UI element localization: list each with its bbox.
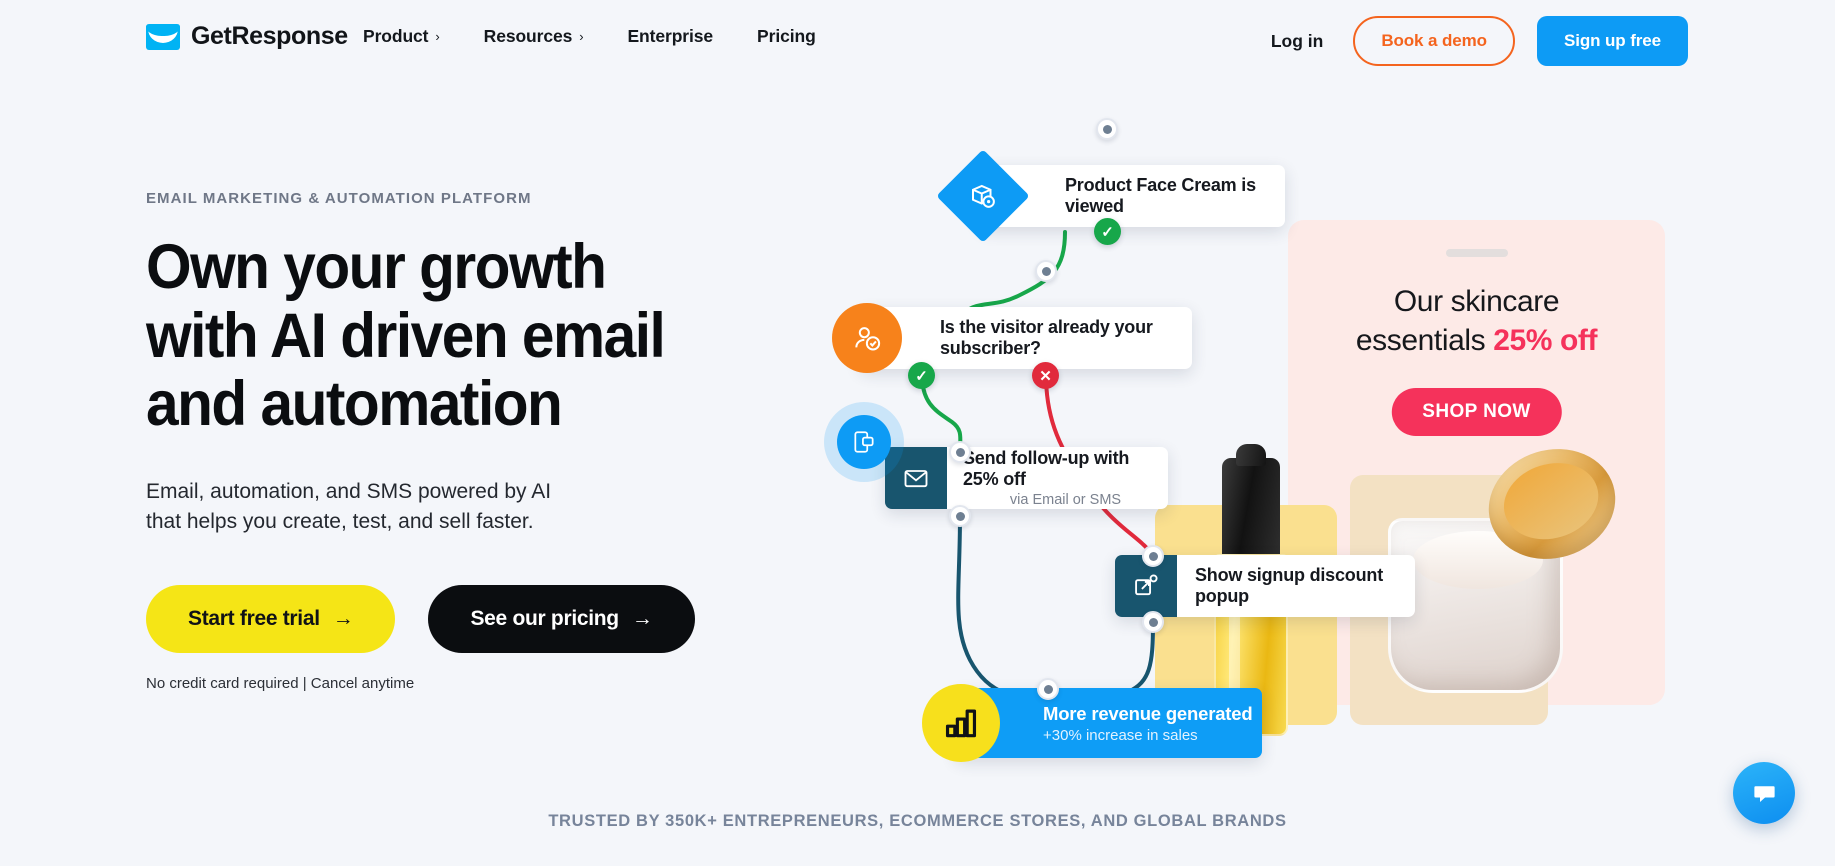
flow-node-trigger[interactable]: Product Face Cream is viewed	[980, 165, 1285, 227]
envelope-icon	[885, 447, 947, 509]
chevron-right-icon: ›	[435, 29, 439, 44]
subhead-line-2: that helps you create, test, and sell fa…	[146, 510, 534, 533]
start-free-trial-button[interactable]: Start free trial →	[146, 585, 395, 653]
hero-eyebrow: EMAIL MARKETING & AUTOMATION PLATFORM	[146, 190, 866, 207]
hero-illustration: Our skincare essentials 25% off SHOP NOW	[860, 120, 1670, 800]
connector-dot[interactable]	[949, 505, 971, 527]
cta-fineprint: No credit card required | Cancel anytime	[146, 675, 866, 692]
flow-node-message[interactable]: Send follow-up with 25% off via Email or…	[885, 447, 1168, 509]
connector-dot[interactable]	[949, 441, 971, 463]
chevron-right-icon: ›	[579, 29, 583, 44]
hero-content: EMAIL MARKETING & AUTOMATION PLATFORM Ow…	[146, 190, 866, 692]
user-check-icon	[832, 303, 902, 373]
cta-label: See our pricing	[470, 607, 618, 631]
page-title: Own your growth with AI driven email and…	[146, 233, 816, 439]
nav-label: Enterprise	[627, 26, 713, 47]
cta-label: Start free trial	[188, 607, 320, 631]
arrow-right-icon: →	[333, 607, 354, 631]
connector-yes-badge[interactable]: ✓	[908, 362, 935, 389]
sms-phone-icon	[837, 415, 891, 469]
nav-item-product[interactable]: Product ›	[363, 26, 440, 47]
nav-item-pricing[interactable]: Pricing	[757, 26, 816, 47]
site-header: GetResponse Product › Resources › Enterp…	[0, 0, 1835, 84]
connector-no-badge[interactable]: ✕	[1032, 362, 1059, 389]
hero-cta-row: Start free trial → See our pricing →	[146, 585, 866, 653]
brand-logo[interactable]: GetResponse	[146, 22, 348, 51]
nav-label: Product	[363, 26, 428, 47]
banner-title: More revenue generated	[1043, 703, 1262, 725]
node-label: Product Face Cream is viewed	[1065, 175, 1285, 217]
connector-dot[interactable]	[1096, 118, 1118, 140]
banner-subtitle: +30% increase in sales	[1043, 727, 1262, 744]
node-label: Send follow-up with 25% off	[963, 448, 1168, 490]
node-label: Is the visitor already your subscriber?	[940, 317, 1192, 359]
nav-item-resources[interactable]: Resources ›	[484, 26, 584, 47]
connector-dot[interactable]	[1142, 545, 1164, 567]
hero-subhead: Email, automation, and SMS powered by AI…	[146, 477, 866, 537]
connector-dot[interactable]	[1037, 678, 1059, 700]
chat-bubble-icon	[1751, 780, 1778, 807]
headline-line-1: Own your growth	[146, 232, 605, 302]
nav-label: Pricing	[757, 26, 816, 47]
connector-dot[interactable]	[1035, 260, 1057, 282]
landing-page: GetResponse Product › Resources › Enterp…	[0, 0, 1835, 866]
login-link[interactable]: Log in	[1263, 31, 1331, 52]
arrow-right-icon: →	[632, 607, 653, 631]
see-pricing-button[interactable]: See our pricing →	[428, 585, 694, 653]
node-label: Show signup discount popup	[1195, 565, 1415, 607]
headline-line-2: with AI driven email	[146, 301, 664, 371]
chat-widget-button[interactable]	[1733, 762, 1795, 824]
headline-line-3: and automation	[146, 369, 561, 439]
connector-yes-badge[interactable]: ✓	[1094, 218, 1121, 245]
sign-up-free-button[interactable]: Sign up free	[1537, 16, 1688, 66]
brand-name: GetResponse	[191, 22, 348, 51]
bar-chart-icon	[922, 684, 1000, 762]
revenue-banner[interactable]: More revenue generated +30% increase in …	[955, 688, 1262, 758]
connector-dot[interactable]	[1142, 611, 1164, 633]
nav-item-enterprise[interactable]: Enterprise	[627, 26, 713, 47]
book-demo-button[interactable]: Book a demo	[1353, 16, 1515, 66]
nav-label: Resources	[484, 26, 573, 47]
node-sublabel: via Email or SMS	[1010, 492, 1121, 508]
primary-nav: Product › Resources › Enterprise Pricing	[363, 26, 816, 47]
subhead-line-1: Email, automation, and SMS powered by AI	[146, 480, 551, 503]
header-actions: Log in Book a demo Sign up free	[1263, 16, 1688, 66]
flow-node-condition[interactable]: Is the visitor already your subscriber?	[860, 307, 1192, 369]
trust-strip: TRUSTED BY 350K+ ENTREPRENEURS, ECOMMERC…	[0, 812, 1835, 831]
envelope-icon	[146, 24, 180, 50]
